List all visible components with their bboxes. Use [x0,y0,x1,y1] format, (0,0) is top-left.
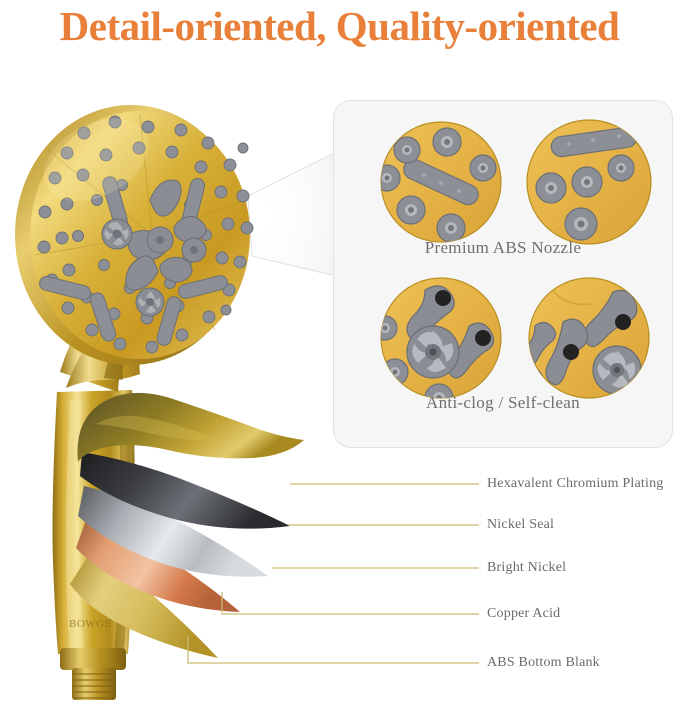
infographic-root: Detail-oriented, Quality-oriented [0,0,679,706]
leader-abs-bottom-blank [188,636,479,663]
label-copper-acid: Copper Acid [487,606,560,622]
label-bright-nickel: Bright Nickel [487,560,566,576]
label-nickel-seal: Nickel Seal [487,517,554,533]
label-abs-bottom-blank: ABS Bottom Blank [487,655,600,671]
label-hexavalent-chromium-plating: Hexavalent Chromium Plating [487,476,663,492]
leader-copper-acid [222,592,479,614]
leader-lines [0,0,679,706]
